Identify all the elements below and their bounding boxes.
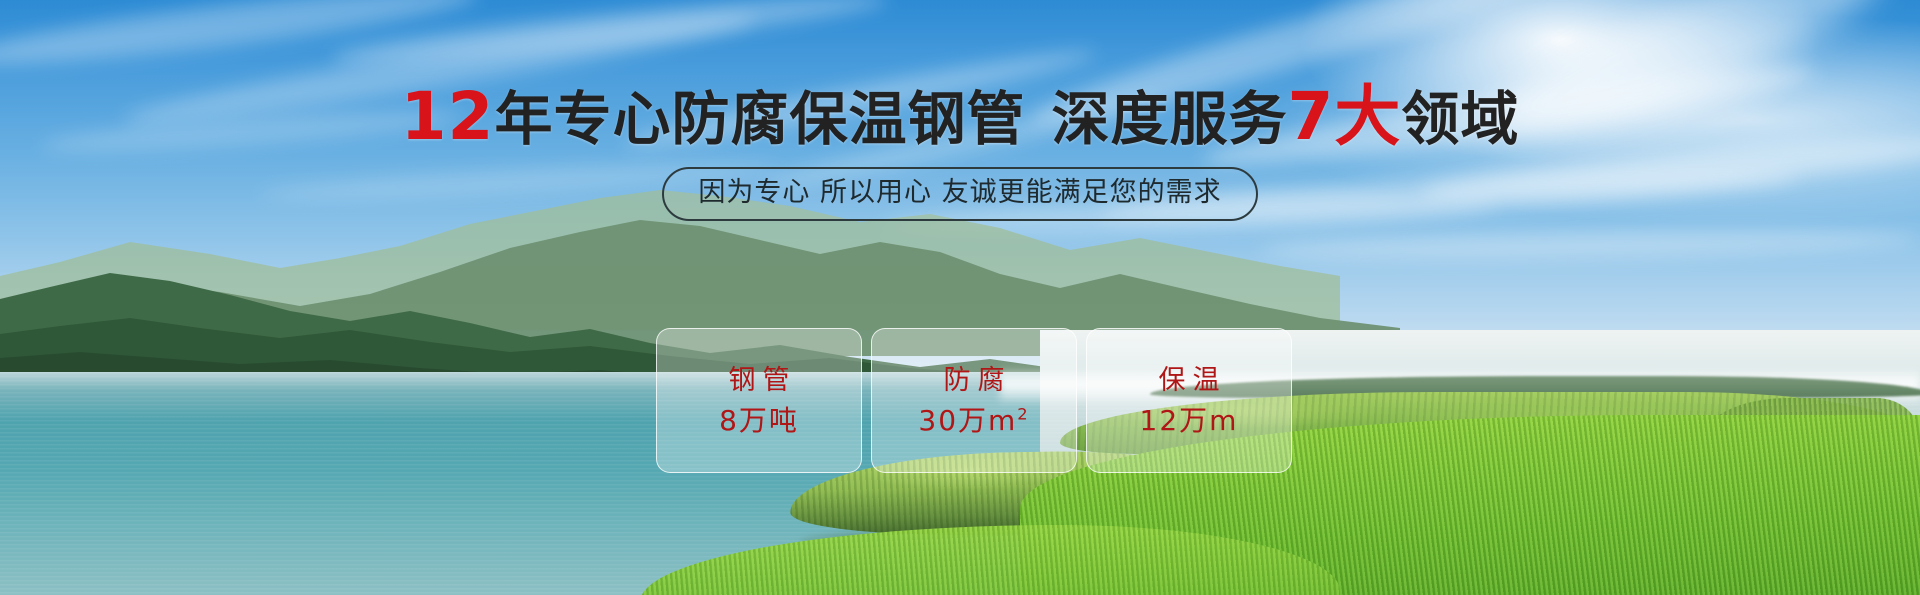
stat-card-value: 30万m2 xyxy=(918,407,1029,435)
headline-fields: 领域 xyxy=(1401,85,1519,153)
hero-banner: 12年专心防腐保温钢管深度服务7大领域 因为专心 所以用心 友诚更能满足您的需求… xyxy=(0,0,1920,595)
headline-years-rest: 年专心防腐保温钢管 xyxy=(494,85,1025,153)
headline-years-number: 12 xyxy=(401,78,495,155)
stat-card-value-main: 12万m xyxy=(1140,404,1239,437)
stat-card-insulation[interactable]: 保温 12万m xyxy=(1086,328,1292,473)
stat-card-title: 钢管 xyxy=(722,367,797,394)
stat-card-steel-pipe[interactable]: 钢管 8万吨 xyxy=(656,328,862,473)
stat-card-value: 12万m xyxy=(1140,407,1239,435)
banner-headline: 12年专心防腐保温钢管深度服务7大领域 xyxy=(0,84,1920,150)
stat-card-value-main: 30万m xyxy=(918,404,1017,437)
banner-content: 12年专心防腐保温钢管深度服务7大领域 因为专心 所以用心 友诚更能满足您的需求… xyxy=(0,0,1920,595)
banner-subtitle-pill: 因为专心 所以用心 友诚更能满足您的需求 xyxy=(662,167,1257,221)
stat-card-title: 防腐 xyxy=(937,367,1012,394)
stat-card-value-superscript: 2 xyxy=(1017,404,1029,423)
stat-card-title: 保温 xyxy=(1152,367,1227,394)
stat-card-list: 钢管 8万吨 防腐 30万m2 保温 12万m xyxy=(656,328,1292,473)
stat-card-value: 8万吨 xyxy=(719,407,799,435)
headline-seven: 7大 xyxy=(1287,78,1401,155)
banner-subtitle-wrap: 因为专心 所以用心 友诚更能满足您的需求 xyxy=(0,167,1920,221)
headline-service: 深度服务 xyxy=(1051,85,1287,153)
stat-card-anticorrosion[interactable]: 防腐 30万m2 xyxy=(871,328,1077,473)
stat-card-value-main: 8万吨 xyxy=(719,404,799,437)
